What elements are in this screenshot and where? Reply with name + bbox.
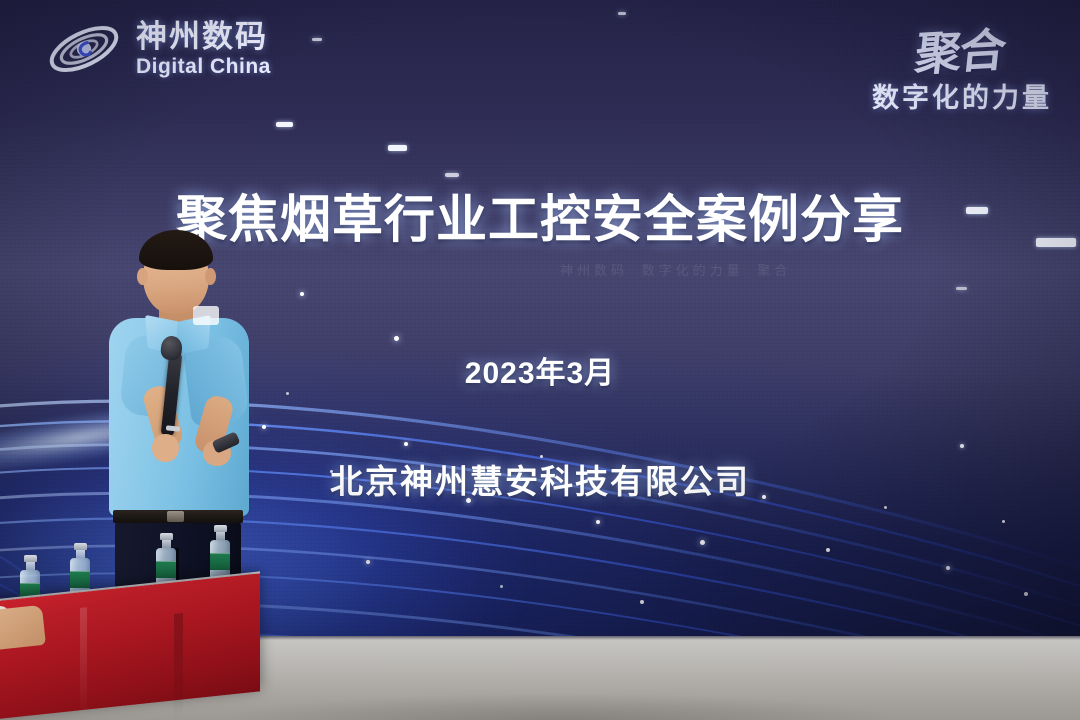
stage-photo: 神州数码 数字化的力量 聚合 神州数码 Digital China 聚合 数字化…	[0, 0, 1080, 720]
speaker-left-ear	[137, 268, 148, 285]
speaker-left-hand	[152, 434, 179, 462]
bottle-label	[156, 561, 176, 578]
bottle-neck	[216, 532, 225, 540]
tablecloth-fold	[80, 607, 87, 720]
bottle-label	[70, 571, 90, 588]
floor-shadow	[180, 684, 940, 720]
speaker-belt-buckle	[167, 511, 184, 522]
bottle-neck	[76, 550, 85, 558]
bottle-cap	[74, 543, 87, 550]
bottle-cap	[214, 525, 227, 532]
bottle-cap	[160, 533, 173, 540]
speaker-chest-logo-patch	[193, 306, 219, 325]
bottle-label	[210, 553, 230, 570]
bottle-cap	[24, 555, 37, 562]
speaker-right-ear	[205, 268, 216, 285]
attendee-arm	[0, 605, 46, 651]
speaker-hair	[139, 230, 213, 270]
tablecloth-fold	[174, 613, 183, 720]
bottle-neck	[26, 562, 35, 570]
foreground-table	[0, 572, 260, 720]
bottle-neck	[162, 540, 171, 548]
speaker-person	[95, 228, 270, 623]
